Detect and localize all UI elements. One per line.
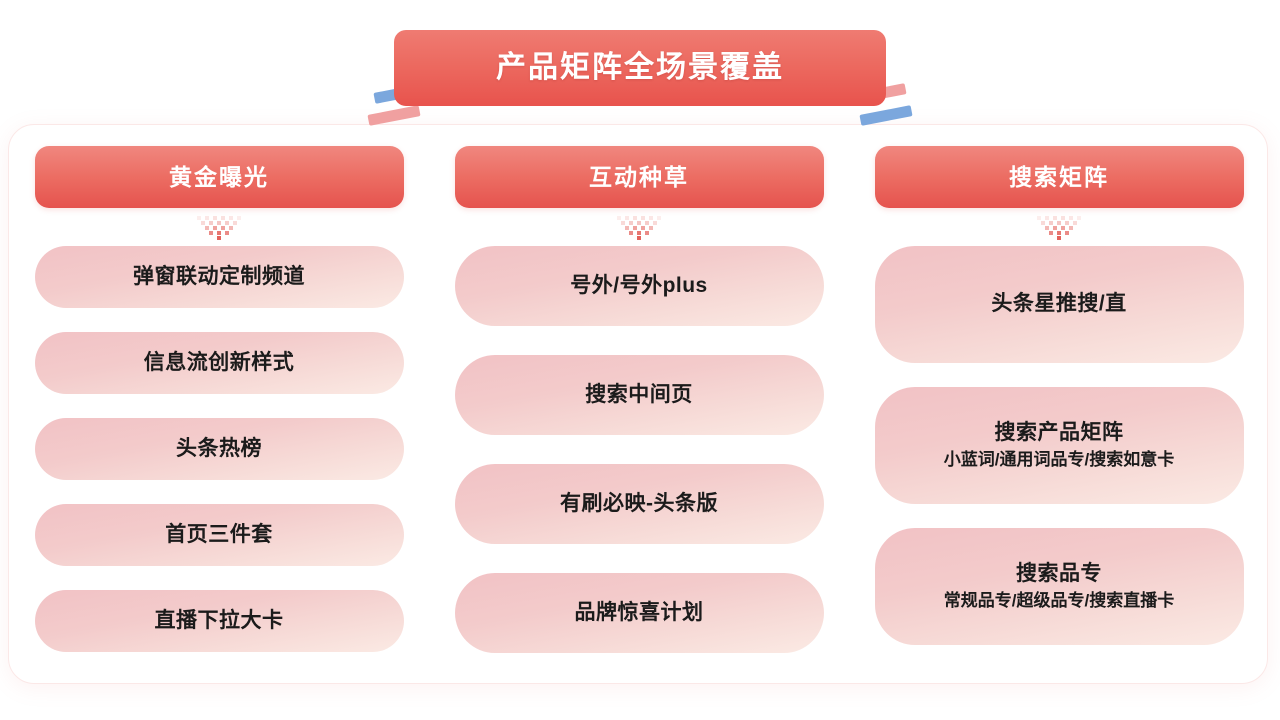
column-header-golden-exposure[interactable]: 黄金曝光 bbox=[35, 146, 404, 208]
item-pill[interactable]: 号外/号外plus bbox=[455, 246, 824, 326]
item-pill[interactable]: 品牌惊喜计划 bbox=[455, 573, 824, 653]
item-title: 搜索中间页 bbox=[585, 382, 693, 408]
column-header-search-matrix[interactable]: 搜索矩阵 bbox=[875, 146, 1244, 208]
column-container: 黄金曝光 bbox=[9, 125, 1269, 685]
column-search-matrix: 搜索矩阵 bbox=[873, 146, 1245, 685]
item-title: 搜索品专 bbox=[1016, 561, 1102, 587]
item-pill[interactable]: 搜索产品矩阵 小蓝词/通用词品专/搜索如意卡 bbox=[875, 387, 1244, 504]
item-subtitle: 常规品专/超级品专/搜索直播卡 bbox=[944, 590, 1174, 612]
halftone-chevron-down-icon bbox=[1035, 214, 1083, 240]
slash-right-bottom-icon bbox=[859, 105, 912, 126]
item-title: 有刷必映-头条版 bbox=[560, 491, 718, 517]
item-list-interactive-seeding: 号外/号外plus 搜索中间页 有刷必映-头条版 品牌惊喜计划 bbox=[455, 246, 824, 653]
column-header-interactive-seeding[interactable]: 互动种草 bbox=[455, 146, 824, 208]
item-title: 信息流创新样式 bbox=[144, 350, 295, 376]
item-title: 弹窗联动定制频道 bbox=[133, 264, 305, 290]
item-list-golden-exposure: 弹窗联动定制频道 信息流创新样式 头条热榜 首页三件套 直播下拉大卡 bbox=[35, 246, 404, 652]
item-pill[interactable]: 搜索中间页 bbox=[455, 355, 824, 435]
title-banner-area: 产品矩阵全场景覆盖 bbox=[0, 30, 1280, 110]
page-title: 产品矩阵全场景覆盖 bbox=[496, 53, 784, 83]
item-pill[interactable]: 头条星推搜/直 bbox=[875, 246, 1244, 363]
item-title: 头条星推搜/直 bbox=[991, 291, 1126, 317]
item-list-search-matrix: 头条星推搜/直 搜索产品矩阵 小蓝词/通用词品专/搜索如意卡 搜索品专 常规品专… bbox=[875, 246, 1244, 645]
item-pill[interactable]: 有刷必映-头条版 bbox=[455, 464, 824, 544]
column-header-label: 互动种草 bbox=[589, 166, 689, 189]
halftone-chevron-down-icon bbox=[195, 214, 243, 240]
item-pill[interactable]: 搜索品专 常规品专/超级品专/搜索直播卡 bbox=[875, 528, 1244, 645]
column-golden-exposure: 黄金曝光 bbox=[33, 146, 405, 685]
halftone-chevron-down-icon bbox=[615, 214, 663, 240]
item-pill[interactable]: 头条热榜 bbox=[35, 418, 404, 480]
column-header-label: 黄金曝光 bbox=[169, 166, 269, 189]
item-subtitle: 小蓝词/通用词品专/搜索如意卡 bbox=[944, 449, 1174, 471]
item-title: 直播下拉大卡 bbox=[155, 608, 284, 634]
item-pill[interactable]: 首页三件套 bbox=[35, 504, 404, 566]
item-title: 头条热榜 bbox=[176, 436, 262, 462]
column-header-label: 搜索矩阵 bbox=[1009, 166, 1109, 189]
item-title: 搜索产品矩阵 bbox=[995, 420, 1124, 446]
matrix-card: 黄金曝光 bbox=[8, 124, 1268, 684]
item-pill[interactable]: 直播下拉大卡 bbox=[35, 590, 404, 652]
item-title: 号外/号外plus bbox=[570, 273, 708, 299]
item-pill[interactable]: 信息流创新样式 bbox=[35, 332, 404, 394]
infographic-canvas: 产品矩阵全场景覆盖 黄金曝光 bbox=[0, 0, 1280, 720]
title-banner: 产品矩阵全场景覆盖 bbox=[394, 30, 886, 106]
item-title: 品牌惊喜计划 bbox=[575, 600, 704, 626]
slash-left-bottom-icon bbox=[367, 105, 420, 126]
item-title: 首页三件套 bbox=[165, 522, 273, 548]
item-pill[interactable]: 弹窗联动定制频道 bbox=[35, 246, 404, 308]
column-interactive-seeding: 互动种草 bbox=[453, 146, 825, 685]
